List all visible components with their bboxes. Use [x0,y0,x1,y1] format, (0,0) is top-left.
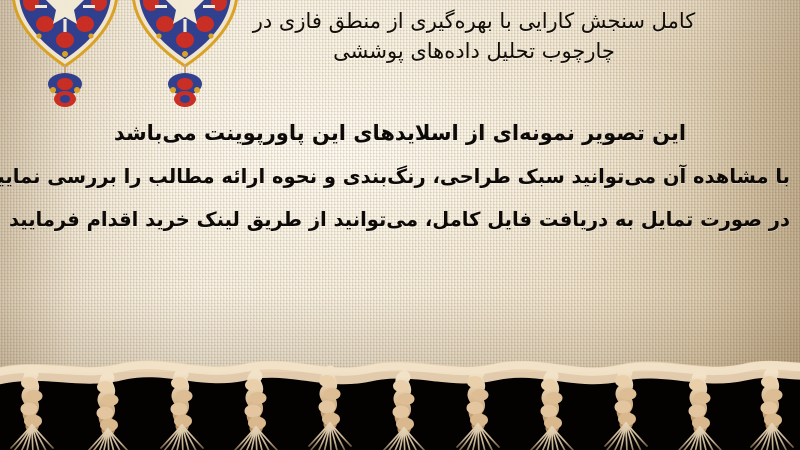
slide-canvas: کامل سنجش کارایی با بهره‌گیری از منطق فا… [0,0,800,450]
title-line-2: چارچوب تحلیل داده‌های پوششی [164,36,784,67]
title-line-1: کامل سنجش کارایی با بهره‌گیری از منطق فا… [164,6,784,37]
body-line-2: با مشاهده آن می‌توانید سبک طراحی، رنگ‌بن… [10,155,790,198]
black-bottom-band [0,372,800,450]
body-line-1: این تصویر نمونه‌ای از اسلایدهای این پاور… [10,112,790,155]
body-line-3: در صورت تمایل به دریافت فایل کامل، می‌تو… [10,198,790,241]
slide-title: کامل سنجش کارایی با بهره‌گیری از منطق فا… [164,6,784,67]
slide-body-text: این تصویر نمونه‌ای از اسلایدهای این پاور… [10,112,790,241]
